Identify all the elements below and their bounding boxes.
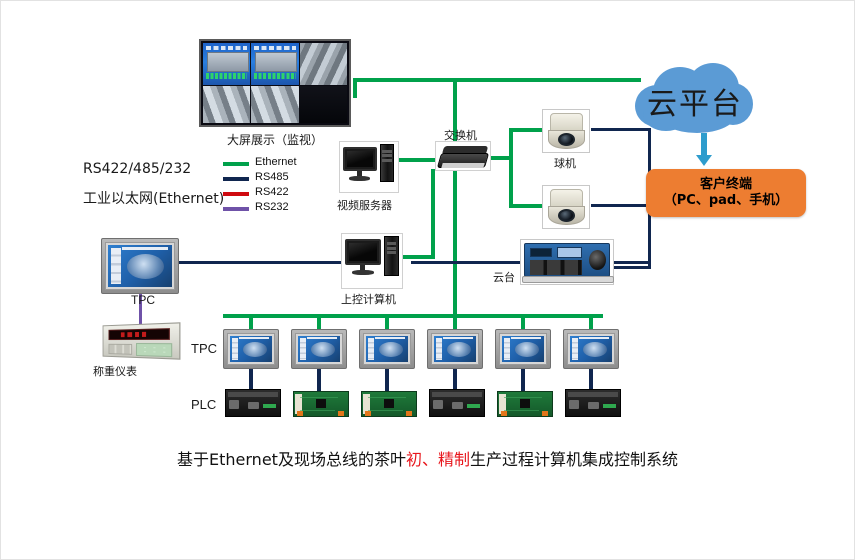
wire-rs485-plc-drop-6 <box>589 369 593 391</box>
plc-unit-4 <box>429 389 485 417</box>
camera-1-housing-top <box>550 113 583 131</box>
client-terminal-box: 客户终端 （PC、pad、手机） <box>646 169 806 217</box>
legend-title-line2: 工业以太网(Ethernet) <box>83 188 224 208</box>
tpc-left-screen <box>108 245 172 287</box>
camera-2-lens <box>558 209 575 222</box>
wire-rs485-plc-drop-5 <box>521 369 525 391</box>
wire-ethernet-tpc-bus-end <box>599 314 603 318</box>
wire-ethernet-camera-bus <box>509 128 513 208</box>
wire-rs485-plc-drop-2 <box>317 369 321 391</box>
legend-swatch-rs232 <box>223 207 249 211</box>
ptz-keypad <box>530 260 582 275</box>
weighing-instrument-label: 称重仪表 <box>93 363 137 379</box>
camera-1-lens <box>558 133 575 146</box>
tpc-left-titlebar <box>122 247 168 251</box>
video-server-monitor-base <box>349 176 370 181</box>
wire-ethernet-host-link <box>399 255 435 259</box>
wire-rs485-ptz-link <box>613 266 651 269</box>
wire-rs485-camera2-link <box>591 204 651 207</box>
caption-part1: 基于Ethernet及现场总线的茶叶 <box>177 450 406 469</box>
cloud-label: 云平台 <box>647 79 743 123</box>
wire-ethernet-switch-host-riser <box>431 169 435 259</box>
switch-label: 交换机 <box>444 127 477 143</box>
legend-swatch-rs422 <box>223 192 249 196</box>
video-wall-cell-6 <box>300 86 347 123</box>
camera-2-housing-top <box>550 189 583 207</box>
host-computer-monitor <box>345 239 381 265</box>
cloud-to-client-arrow-line <box>701 133 707 157</box>
video-wall-cell-3 <box>300 43 347 85</box>
weighing-instrument-sidekeys <box>109 344 133 355</box>
host-computer-monitor-base <box>352 270 374 275</box>
video-server-monitor <box>343 147 377 171</box>
host-computer-label: 上控计算机 <box>341 291 396 307</box>
video-wall-cell-1 <box>203 43 250 85</box>
wire-ethernet-tpc-drop-6 <box>589 314 593 330</box>
wire-ethernet-tpc-drop-1 <box>249 314 253 330</box>
wire-ethernet-camera1 <box>509 128 542 132</box>
diagram-canvas: 大屏展示（监视） RS422/485/232 工业以太网(Ethernet) E… <box>0 0 855 560</box>
weighing-instrument <box>103 322 181 359</box>
plc-unit-5 <box>497 391 553 417</box>
plc-unit-6 <box>565 389 621 417</box>
video-server-tower <box>380 144 394 182</box>
plc-unit-1 <box>225 389 281 417</box>
weighing-instrument-display <box>109 328 170 340</box>
video-wall-cell-2 <box>251 43 298 85</box>
diagram-caption: 基于Ethernet及现场总线的茶叶初、精制生产过程计算机集成控制系统 <box>1 446 854 470</box>
client-terminal-line2: （PC、pad、手机） <box>664 193 788 209</box>
wire-ethernet-trunk-top <box>353 78 641 82</box>
legend-item-rs422: RS422 <box>223 186 333 201</box>
wire-rs485-plc-drop-3 <box>385 369 389 391</box>
video-wall-cell-4 <box>203 86 250 123</box>
wire-rs485-plc-drop-1 <box>249 369 253 391</box>
wire-ethernet-tpc-bus <box>223 314 603 318</box>
tpc-panel-1 <box>223 329 279 369</box>
caption-highlight: 初、精制 <box>406 450 470 469</box>
legend-item-rs485: RS485 <box>223 171 333 186</box>
legend-label-rs485: RS485 <box>255 171 289 183</box>
legend-title-line1: RS422/485/232 <box>83 161 191 177</box>
tpc-panel-6 <box>563 329 619 369</box>
wire-ethernet-camera2 <box>509 204 542 208</box>
legend-item-rs232: RS232 <box>223 201 333 216</box>
wire-ethernet-videowall-riser <box>353 78 357 98</box>
ptz-base <box>522 276 614 283</box>
ptz-label: 云台 <box>493 269 515 285</box>
tpc-panel-2 <box>291 329 347 369</box>
legend-label-rs232: RS232 <box>255 201 289 213</box>
legend-swatch-rs485 <box>223 177 249 181</box>
legend-label-ethernet: Ethernet <box>255 156 297 168</box>
wire-ethernet-tpc-drop-4 <box>453 314 457 330</box>
video-server-label: 视频服务器 <box>337 197 392 213</box>
host-computer-tower <box>384 236 399 276</box>
cloud-platform: 云平台 <box>629 63 754 135</box>
tpc-left-bezel <box>105 242 175 290</box>
tpc-row-label: TPC <box>191 341 217 356</box>
caption-part2: 生产过程计算机集成控制系统 <box>470 450 678 469</box>
video-wall-label: 大屏展示（监视） <box>227 131 323 148</box>
wire-rs485-plc-drop-4 <box>453 369 457 391</box>
wire-ethernet-tpc-drop-2 <box>317 314 321 330</box>
video-wall-cell-5 <box>251 86 298 123</box>
weighing-instrument-keypad <box>136 343 172 357</box>
plc-unit-3 <box>361 391 417 417</box>
legend: Ethernet RS485 RS422 RS232 <box>223 156 333 216</box>
ptz-led-display <box>530 248 552 257</box>
tpc-left-label: TPC <box>131 293 155 307</box>
plc-row-label: PLC <box>191 397 216 412</box>
plc-unit-2 <box>293 391 349 417</box>
tpc-panel-4 <box>427 329 483 369</box>
switch-port-strip <box>441 163 484 168</box>
ptz-joystick <box>589 250 606 270</box>
legend-item-ethernet: Ethernet <box>223 156 333 171</box>
cloud-to-client-arrow-head <box>696 155 712 166</box>
ptz-lcd-screen <box>557 247 582 258</box>
legend-label-rs422: RS422 <box>255 186 289 198</box>
wire-ethernet-tpc-drop-5 <box>521 314 525 330</box>
wire-ethernet-tpc-drop-3 <box>385 314 389 330</box>
wire-rs485-tpc-host <box>171 261 343 264</box>
tpc-left-panel <box>101 238 179 294</box>
wire-ethernet-field-riser <box>453 169 457 316</box>
legend-swatch-ethernet <box>223 162 249 166</box>
client-terminal-line1: 客户终端 <box>700 177 752 193</box>
tpc-panel-5 <box>495 329 551 369</box>
camera-1-label: 球机 <box>554 155 576 171</box>
video-wall-display <box>199 39 351 127</box>
tpc-panel-3 <box>359 329 415 369</box>
ptz-controller <box>524 243 610 277</box>
